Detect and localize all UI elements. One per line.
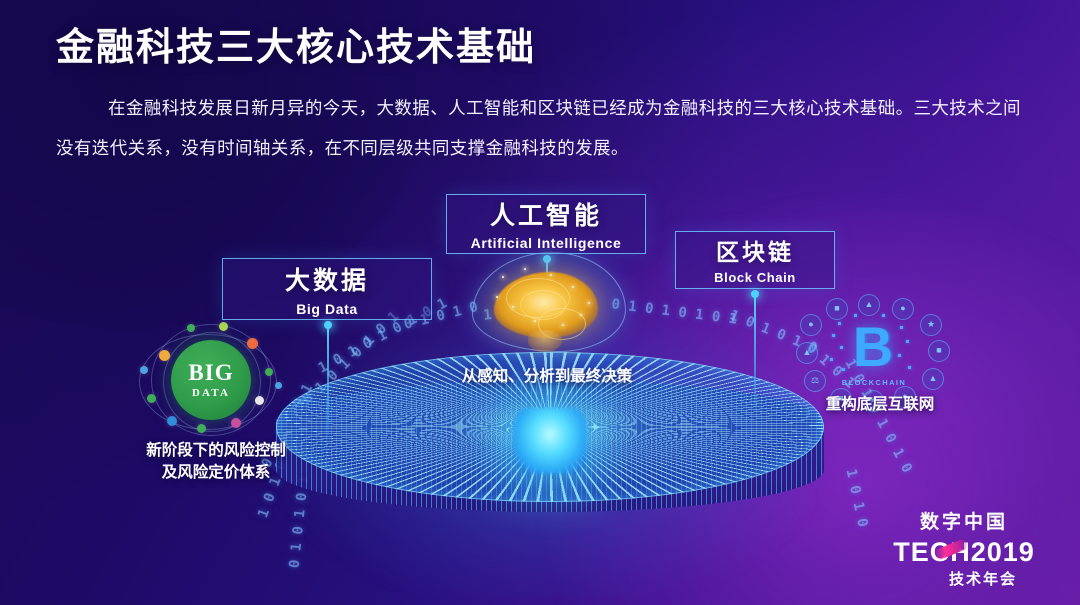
blockchain-pixel <box>830 358 833 361</box>
blockchain-node-icon: ■ <box>928 340 950 362</box>
blockchain-node-icon: ▲ <box>858 294 880 316</box>
bigdata-node-icon <box>187 324 195 332</box>
blockchain-node-icon: ● <box>892 298 914 320</box>
label-blockchain-cn: 区块链 <box>676 241 834 264</box>
blockchain-node-icon: ▲ <box>796 342 818 364</box>
blockchain-b-glyph: B <box>846 318 900 380</box>
label-blockchain-en: Block Chain <box>676 271 834 284</box>
blockchain-pixel <box>838 322 841 325</box>
blockchain-node-icon: ■ <box>826 298 848 320</box>
conference-logo: 数字中国 TECH2019 技术年会 <box>884 513 1044 587</box>
bigdata-node-icon <box>219 322 228 331</box>
disc-core-glow <box>513 408 587 474</box>
caption-blockchain: 重构底层互联网 <box>800 394 960 416</box>
caption-bigdata-line1: 新阶段下的风险控制 <box>108 440 324 462</box>
label-box-blockchain[interactable]: 区块链 Block Chain <box>675 231 835 289</box>
blockchain-pixel <box>906 340 909 343</box>
bigdata-badge-main: BIG <box>188 361 233 384</box>
blockchain-pixel <box>832 334 835 337</box>
connector-pin-blockchain <box>754 297 756 411</box>
label-bigdata-cn: 大数据 <box>223 269 431 294</box>
label-ai-en: Artificial Intelligence <box>447 236 645 250</box>
label-ai-cn: 人工智能 <box>447 204 645 229</box>
binary-segment: 0 1 0 1 0 1 0 1 <box>610 296 737 327</box>
bigdata-node-icon <box>265 368 273 376</box>
brain-icon <box>472 252 624 354</box>
blockchain-pixel <box>908 366 911 369</box>
caption-bigdata: 新阶段下的风险控制 及风险定价体系 <box>108 440 324 484</box>
logo-line-top: 数字中国 <box>884 513 1044 532</box>
bigdata-badge-sub: DATA <box>192 388 230 399</box>
slide-canvas: 金融科技三大核心技术基础 在金融科技发展日新月异的今天，大数据、人工智能和区块链… <box>0 0 1080 605</box>
bigdata-node-icon <box>275 382 282 389</box>
bigdata-node-icon <box>247 338 258 349</box>
bigdata-node-icon <box>159 350 170 361</box>
blockchain-node-icon: ▲ <box>922 368 944 390</box>
logo-line-bottom: 技术年会 <box>922 572 1044 587</box>
label-bigdata-en: Big Data <box>223 302 431 316</box>
intro-paragraph: 在金融科技发展日新月异的今天，大数据、人工智能和区块链已经成为金融科技的三大核心… <box>56 88 1026 168</box>
blockchain-pixel <box>898 354 901 357</box>
bigdata-node-icon <box>255 396 264 405</box>
label-box-bigdata[interactable]: 大数据 Big Data <box>222 258 432 320</box>
bigdata-node-icon <box>167 416 177 426</box>
blockchain-pixel <box>840 346 843 349</box>
caption-ai: 从感知、分析到最终决策 <box>432 366 662 388</box>
label-box-ai[interactable]: 人工智能 Artificial Intelligence <box>446 194 646 254</box>
blockchain-node-icon: ★ <box>920 314 942 336</box>
caption-blockchain-line1: 重构底层互联网 <box>800 394 960 416</box>
bigdata-node-icon <box>197 424 206 433</box>
blockchain-pixel <box>854 314 857 317</box>
logo-line-mid: TECH2019 <box>884 539 1044 566</box>
brain-stem <box>528 330 562 352</box>
blockchain-pixel <box>842 368 845 371</box>
blockchain-pixel <box>900 326 903 329</box>
binary-segment: 1 0 1 0 <box>843 467 871 528</box>
blockchain-node-icon: ● <box>800 314 822 336</box>
blockchain-node-icon: ⚖ <box>804 370 826 392</box>
logo-mid-text: TECH2019 <box>893 537 1035 567</box>
connector-pin-bigdata <box>327 328 329 436</box>
bigdata-node-icon <box>147 394 156 403</box>
blockchain-pixel <box>882 314 885 317</box>
page-title: 金融科技三大核心技术基础 <box>56 16 536 71</box>
bigdata-node-icon <box>231 418 241 428</box>
bigdata-icon-cluster: BIG DATA <box>135 322 290 437</box>
caption-ai-line1: 从感知、分析到最终决策 <box>432 366 662 388</box>
bigdata-node-icon <box>140 366 148 374</box>
caption-bigdata-line2: 及风险定价体系 <box>108 462 324 484</box>
bigdata-badge: BIG DATA <box>171 340 251 420</box>
